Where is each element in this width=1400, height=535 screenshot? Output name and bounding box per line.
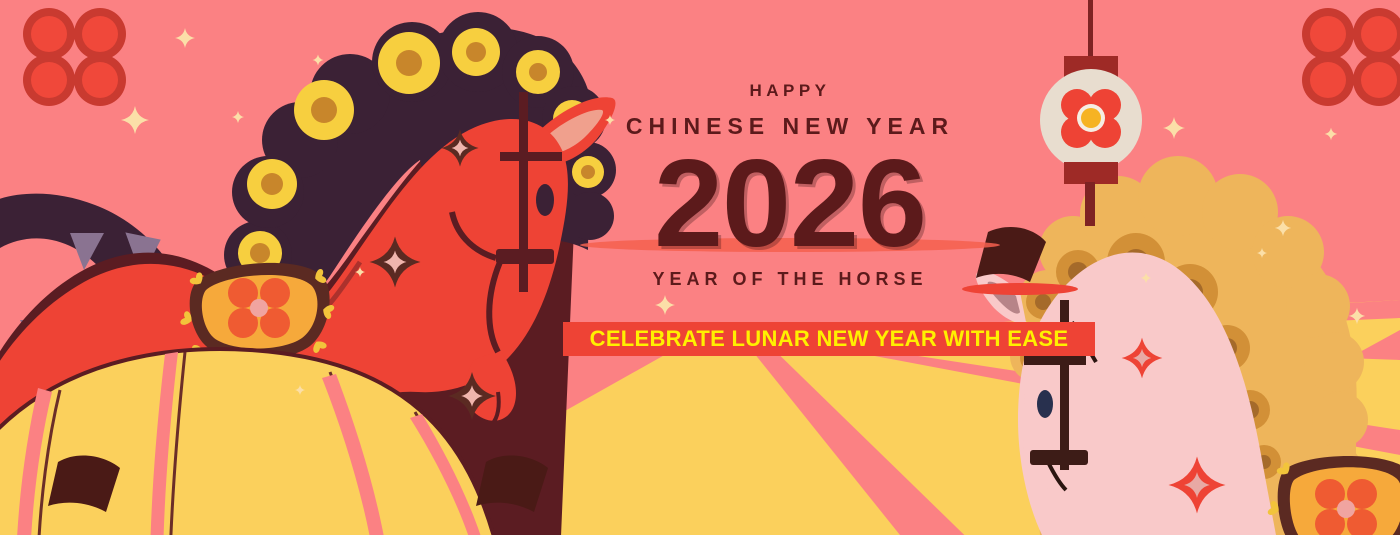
year-wrapper: 2026 <box>560 142 1020 262</box>
lantern-flower <box>1061 89 1121 148</box>
lantern-tassel <box>1085 182 1095 226</box>
horse-eye <box>536 184 554 216</box>
year-label: 2026 <box>560 142 1020 266</box>
headline-block: HAPPY CHINESE NEW YEAR 2026 YEAR OF THE … <box>560 70 1020 340</box>
lunar-new-year-banner: HAPPY CHINESE NEW YEAR 2026 YEAR OF THE … <box>0 0 1400 535</box>
promo-ribbon: CELEBRATE LUNAR NEW YEAR WITH EASE <box>563 322 1095 356</box>
lantern-cord <box>1088 0 1093 62</box>
happy-label: HAPPY <box>560 82 1020 99</box>
promo-ribbon-text: CELEBRATE LUNAR NEW YEAR WITH EASE <box>590 326 1069 352</box>
lantern-base <box>1064 162 1118 184</box>
pale-horse-saddle <box>1267 456 1400 535</box>
pale-horse-eye <box>1037 390 1053 418</box>
